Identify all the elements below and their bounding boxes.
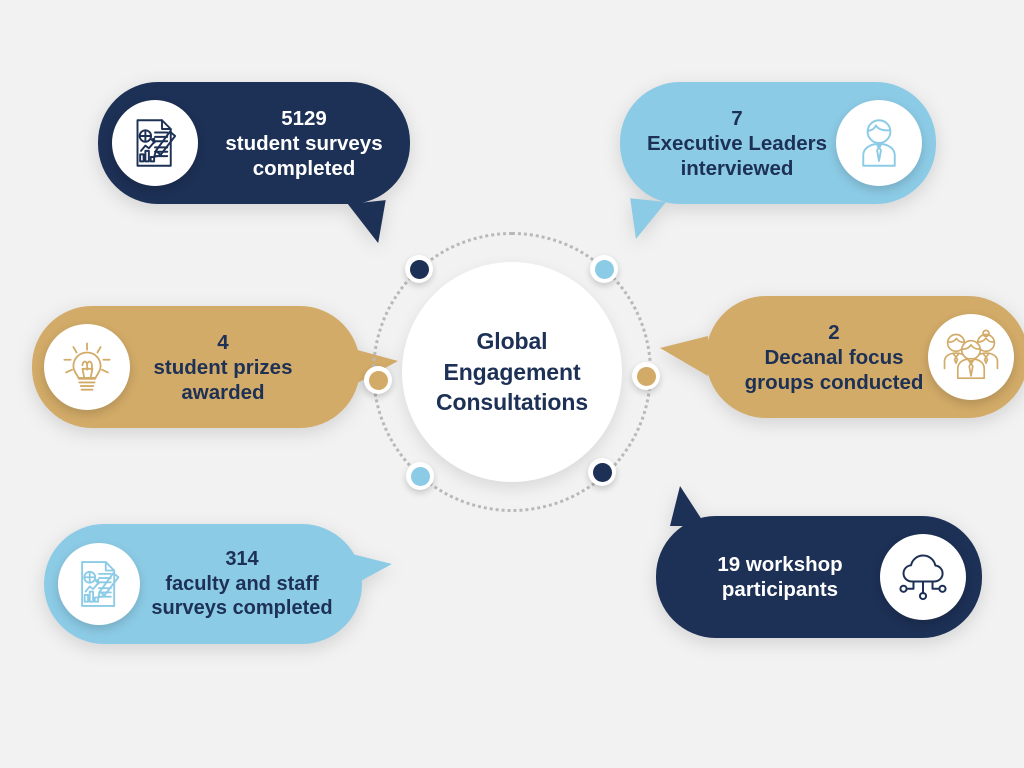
stat-label-line1: Executive Leaders xyxy=(638,131,836,156)
cloud-network-icon xyxy=(880,534,966,620)
stat-label-line2: completed xyxy=(198,156,410,181)
survey-document-icon xyxy=(112,100,198,186)
center-title: Global Engagement Consultations xyxy=(436,326,588,417)
stat-number: 7 xyxy=(638,106,836,131)
stat-label-line2: awarded xyxy=(130,380,316,405)
center-circle[interactable]: Global Engagement Consultations xyxy=(402,262,622,482)
stat-number: 4 xyxy=(130,330,316,355)
bubble-text: 7 Executive Leaders interviewed xyxy=(620,106,836,181)
bubble-tail xyxy=(344,552,392,590)
bubble-body: 7 Executive Leaders interviewed xyxy=(620,82,936,204)
bubble-body: 314 faculty and staff surveys completed xyxy=(44,524,362,644)
survey-document-icon xyxy=(58,543,140,625)
center-hub: Global Engagement Consultations xyxy=(372,232,652,512)
stat-bubble-student-surveys[interactable]: 5129 student surveys completed xyxy=(98,82,410,204)
stat-number: 2 xyxy=(740,320,928,345)
stat-label-line1: faculty and staff xyxy=(140,572,344,596)
executive-person-icon xyxy=(836,100,922,186)
bubble-tail xyxy=(670,486,706,526)
bubble-text: 19 workshop participants xyxy=(656,552,880,602)
stat-bubble-exec-leaders[interactable]: 7 Executive Leaders interviewed xyxy=(620,82,936,204)
stat-label-line1: student prizes xyxy=(130,355,316,380)
stat-label-line2: interviewed xyxy=(638,156,836,181)
stat-number: 19 workshop xyxy=(680,552,880,577)
lightbulb-icon xyxy=(44,324,130,410)
bubble-tail xyxy=(660,336,708,376)
ring-dot-left[interactable] xyxy=(364,366,392,394)
bubble-body: 19 workshop participants xyxy=(656,516,982,638)
stat-label-line1: student surveys xyxy=(198,131,410,156)
stat-number: 5129 xyxy=(198,106,410,131)
bubble-text: 4 student prizes awarded xyxy=(130,330,360,405)
bubble-body: 5129 student surveys completed xyxy=(98,82,410,204)
bubble-text: 5129 student surveys completed xyxy=(198,106,410,181)
bubble-body: 4 student prizes awarded xyxy=(32,306,360,428)
ring-dot-top-left[interactable] xyxy=(405,255,433,283)
center-title-line2: Engagement xyxy=(443,359,580,385)
stat-label-line1: participants xyxy=(680,577,880,602)
ring-dot-top-right[interactable] xyxy=(590,255,618,283)
stat-label-line1: Decanal focus xyxy=(740,345,928,370)
bubble-text: 314 faculty and staff surveys completed xyxy=(140,547,362,620)
bubble-body: 2 Decanal focus groups conducted xyxy=(706,296,1024,418)
stat-label-line2: surveys completed xyxy=(140,596,344,620)
bubble-text: 2 Decanal focus groups conducted xyxy=(706,320,928,395)
center-title-line1: Global xyxy=(477,328,548,354)
ring-dot-right[interactable] xyxy=(632,362,660,390)
infographic-canvas: 5129 student surveys completed 7 Executi… xyxy=(0,0,1024,768)
ring-dot-bottom-right[interactable] xyxy=(588,458,616,486)
focus-group-people-icon xyxy=(928,314,1014,400)
stat-bubble-student-prizes[interactable]: 4 student prizes awarded xyxy=(32,306,360,428)
center-title-line3: Consultations xyxy=(436,389,588,415)
stat-label-line2: groups conducted xyxy=(740,370,928,395)
stat-bubble-decanal-focus-groups[interactable]: 2 Decanal focus groups conducted xyxy=(706,296,1024,418)
stat-number: 314 xyxy=(140,547,344,571)
stat-bubble-workshop-participants[interactable]: 19 workshop participants xyxy=(656,516,982,638)
ring-dot-bottom-left[interactable] xyxy=(406,462,434,490)
stat-bubble-faculty-surveys[interactable]: 314 faculty and staff surveys completed xyxy=(44,524,362,644)
